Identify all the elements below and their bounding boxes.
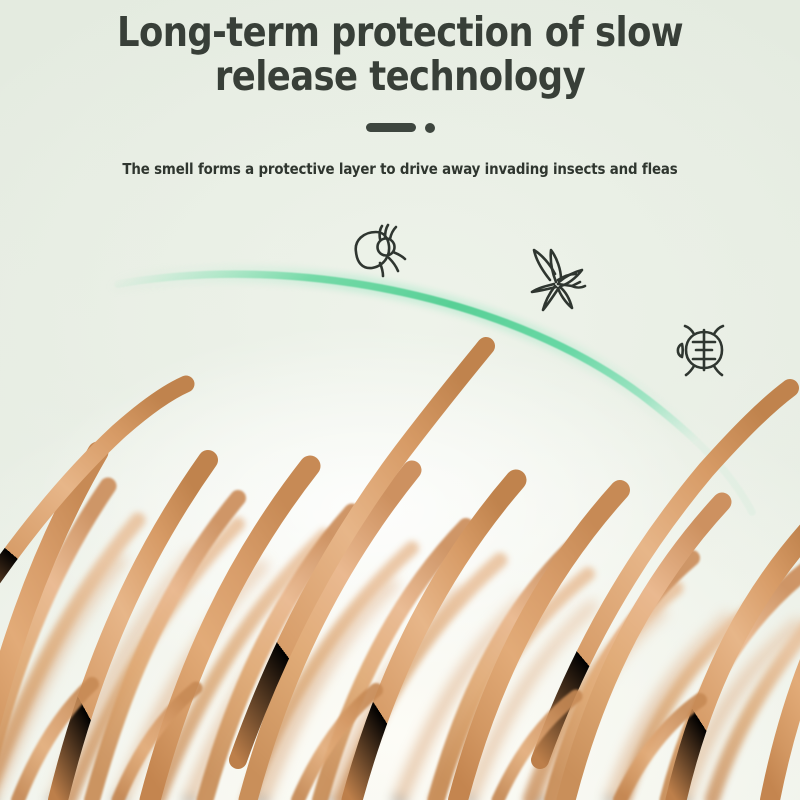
subtitle: The smell forms a protective layer to dr… <box>12 160 788 178</box>
headline-line-2: release technology <box>215 52 585 100</box>
headline-line-1: Long-term protection of slow <box>117 8 683 56</box>
divider <box>0 123 800 133</box>
header: Long-term protection of slow release tec… <box>0 0 800 178</box>
divider-bar <box>366 123 416 132</box>
mosquito-icon <box>532 250 585 310</box>
tick-icon <box>678 326 723 375</box>
divider-dot <box>425 123 435 133</box>
promo-card: Long-term protection of slow release tec… <box>0 0 800 800</box>
page-title: Long-term protection of slow release tec… <box>16 0 784 99</box>
flea-icon <box>356 225 405 276</box>
